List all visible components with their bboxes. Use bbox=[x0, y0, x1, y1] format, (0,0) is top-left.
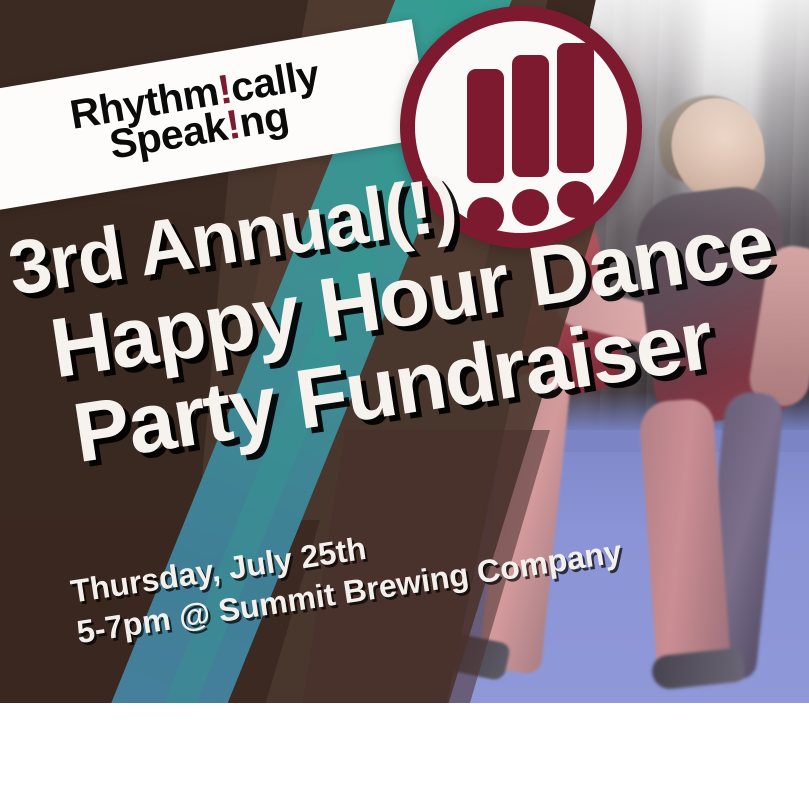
exclamation-accent-glyph: ! bbox=[223, 101, 244, 149]
event-poster: Rhythm!cally Speak!ng 3rd Annual(!) Happ… bbox=[0, 0, 809, 703]
